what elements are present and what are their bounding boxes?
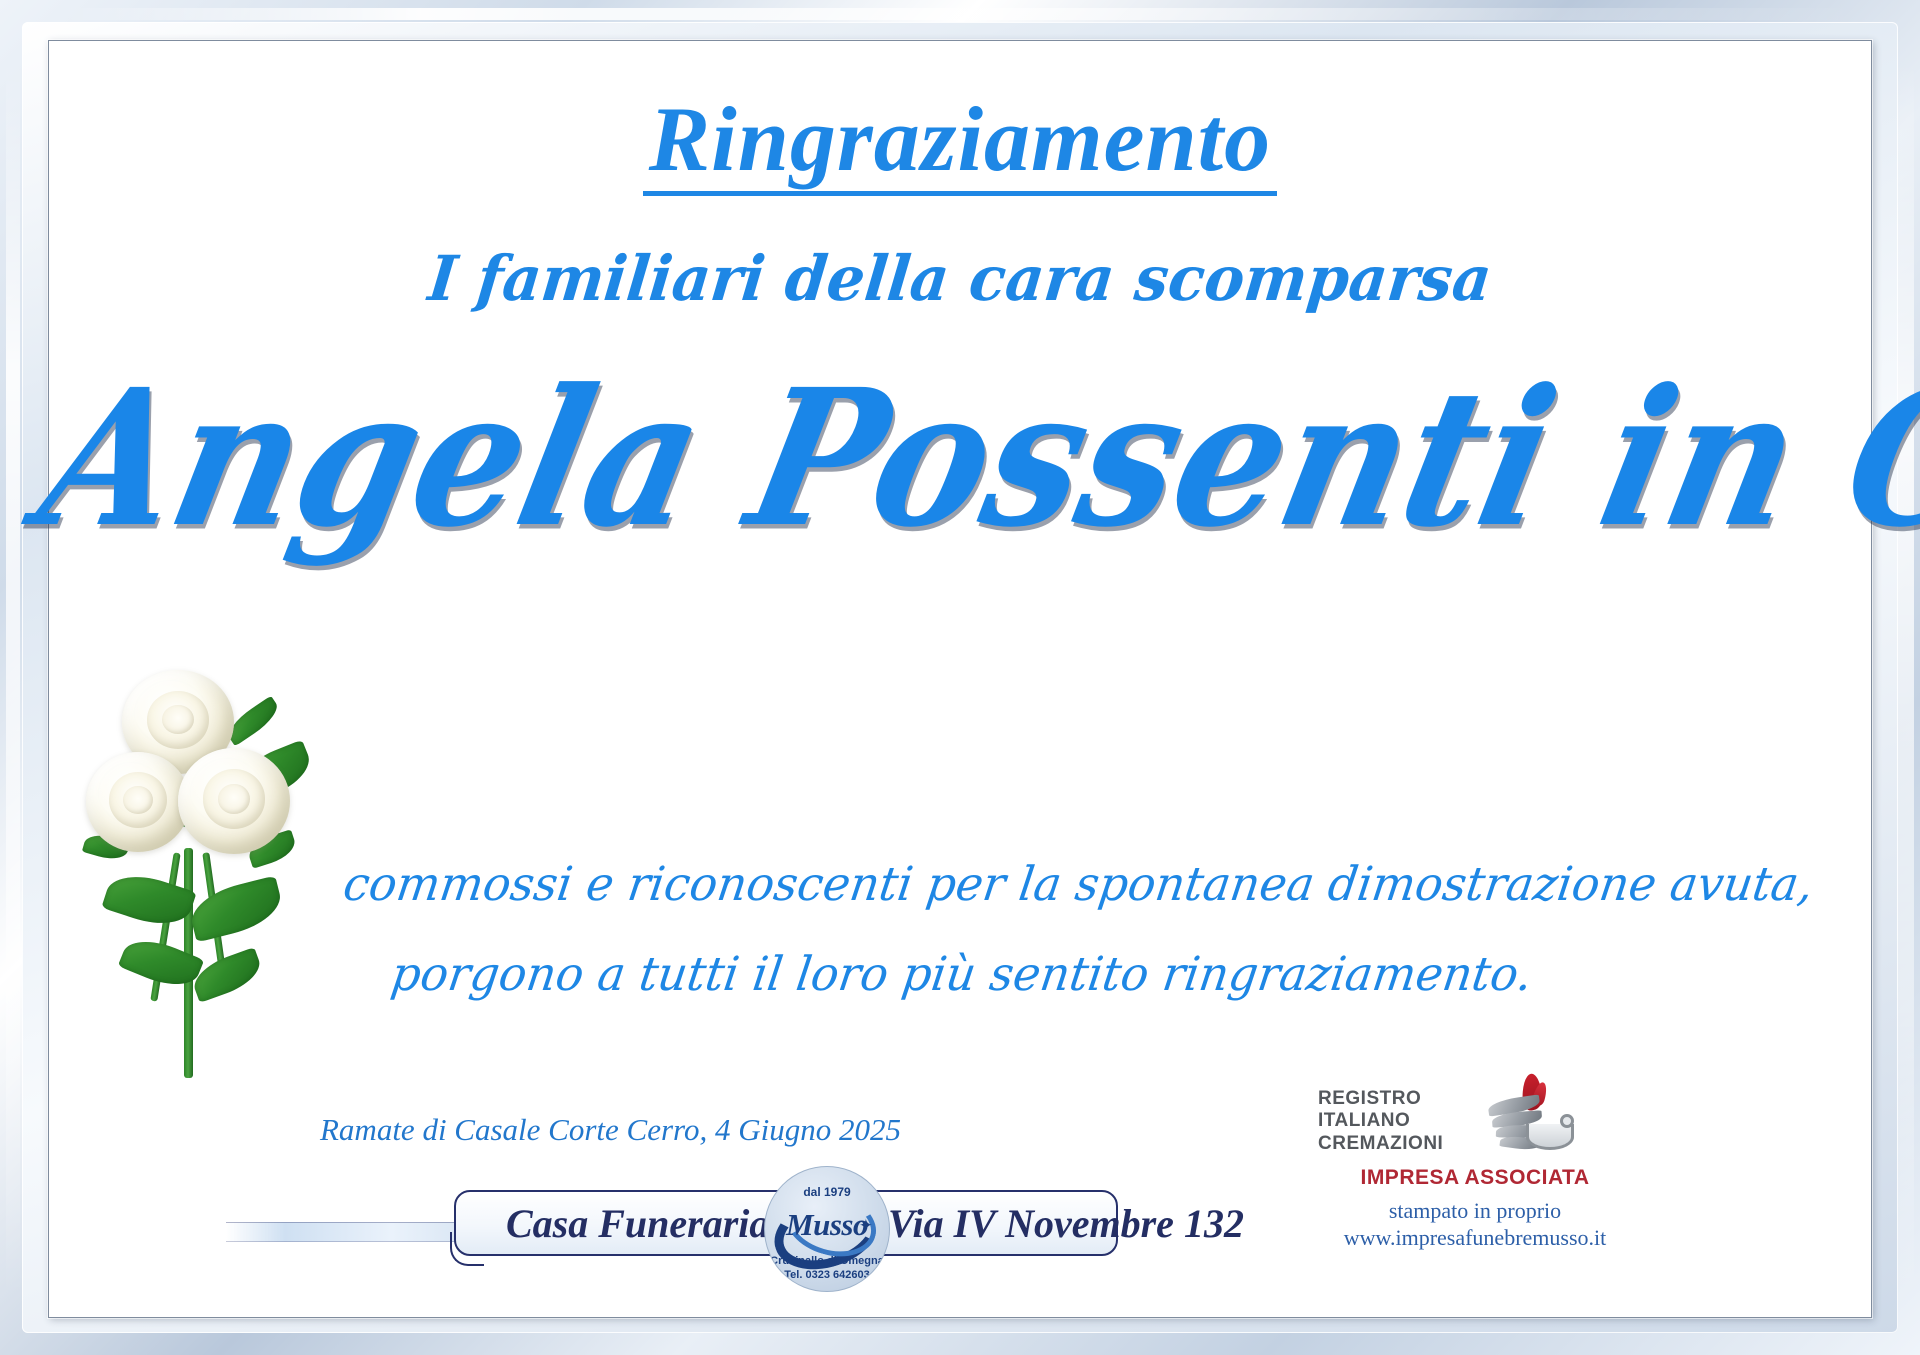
cremation-registry-block: REGISTRO ITALIANO CREMAZIONI IMPRESA ASS… [1310, 1072, 1640, 1262]
frame-highlight-right [1898, 60, 1914, 1300]
ric-line-1: REGISTRO [1318, 1088, 1443, 1110]
musso-phone: Tel. 0323 642603 [765, 1269, 889, 1281]
phoenix-flame-icon [1482, 1074, 1578, 1162]
acknowledgement-line-1: commossi e riconoscenti per la spontanea… [337, 840, 1611, 930]
ric-associate-badge: IMPRESA ASSOCIATA [1310, 1166, 1640, 1190]
ribbon-tail [226, 1222, 462, 1242]
page-title-text: Ringraziamento [643, 93, 1277, 196]
funeral-home-label: Casa Funeraria [506, 1200, 769, 1247]
website-url: www.impresafunebremusso.it [1310, 1225, 1640, 1251]
rose-leaf-bottom-left [101, 866, 196, 934]
place-and-date: Ramate di Casale Corte Cerro, 4 Giugno 2… [320, 1112, 901, 1148]
musso-logo: dal 1979 Musso ✦ Crusinallo di Omegna Te… [764, 1166, 890, 1292]
ribbon-fold [450, 1232, 484, 1266]
urn-neck-icon [1560, 1114, 1574, 1128]
rose-bloom-right [178, 748, 290, 854]
ric-emblem-row: REGISTRO ITALIANO CREMAZIONI [1310, 1072, 1640, 1164]
acknowledgement-line-2: porgono a tutti il loro più sentito ring… [325, 930, 1599, 1020]
white-roses-bouquet-icon [66, 640, 336, 1090]
ric-line-2: ITALIANO [1318, 1110, 1443, 1132]
printed-in-house-note: stampato in proprio [1310, 1198, 1640, 1224]
acknowledgement-paragraph: commossi e riconoscenti per la spontanea… [325, 840, 1611, 1020]
ric-line-3: CREMAZIONI [1318, 1133, 1443, 1155]
funeral-home-address: Via IV Novembre 132 [888, 1200, 1244, 1247]
musso-established-year: dal 1979 [765, 1185, 889, 1199]
memorial-card-content: Ringraziamento I familiari della cara sc… [48, 40, 1872, 1318]
page-title: Ringraziamento [48, 86, 1872, 196]
star-icon: ✦ [859, 1217, 873, 1234]
memorial-plaque-frame: Ringraziamento I familiari della cara sc… [0, 0, 1920, 1355]
ric-registry-name: REGISTRO ITALIANO CREMAZIONI [1318, 1088, 1443, 1155]
frame-highlight-top [60, 8, 1860, 20]
rose-leaf-bottom-right [186, 876, 286, 943]
subtitle-text: I familiari della cara scomparsa [81, 242, 1840, 315]
frame-highlight-left [6, 60, 20, 1300]
rose-leaf-lower-stem-2 [188, 947, 265, 1003]
rose-bloom-left [86, 752, 190, 852]
deceased-name: Angela Possenti in Cavigioli [27, 359, 1893, 557]
musso-city: Crusinallo di Omegna [765, 1255, 889, 1267]
